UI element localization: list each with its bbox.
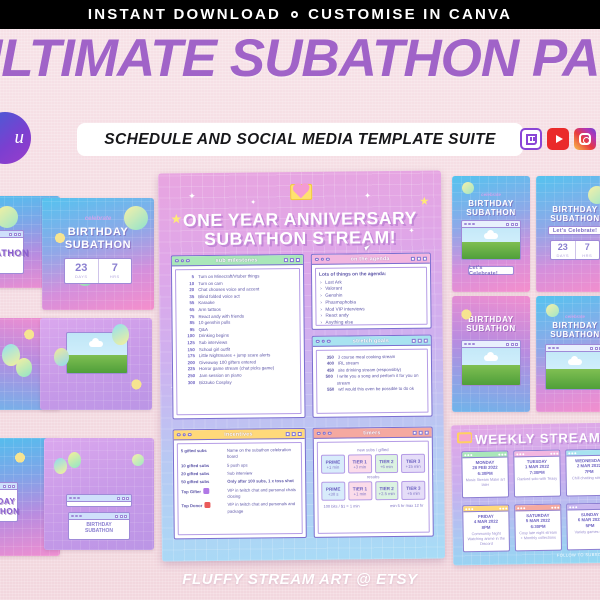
timers-group1-row: PRIME+1 minTIER 1+3 minTIER 2+6 minTIER … <box>321 454 425 474</box>
weekly-day-time: 8PM <box>466 524 507 530</box>
shop-credit: FLUFFY STREAM ART @ ETSY <box>0 571 600 588</box>
timers-group2-label: resubs <box>321 474 425 480</box>
stretch-goals-list: 3503 course meal cooking stream400IRL st… <box>320 354 424 394</box>
window-buttons <box>413 430 429 434</box>
timers-footer-left: 100 bits / $1 = 1 min <box>323 503 359 508</box>
panel-title: stretch goals <box>353 338 389 344</box>
incentive-row: 5 gifted subsName on the subathon celebr… <box>181 447 298 461</box>
photo-frame <box>461 340 521 386</box>
window-dots <box>464 343 475 346</box>
timer-tier-cell: PRIME+1 min <box>321 455 345 474</box>
window-dots <box>71 515 82 518</box>
incentive-value: VIP in twitch chat and personals and pac… <box>227 501 298 514</box>
counter-days: 23 DAYS <box>65 259 98 283</box>
window-dots <box>317 431 332 435</box>
timer-tier-value: +15 min <box>406 463 421 468</box>
window-buttons <box>506 343 518 346</box>
timers-group2-row: PRIME+30 sTIER 1+1 minTIER 2+2.5 minTIER… <box>321 481 425 501</box>
timers-group1-label: new subs / gifted <box>321 447 425 453</box>
palm-leaf-icon <box>126 370 152 394</box>
weekly-day-body: WEDNESDAY2 MAR 20227PMChill chatting str… <box>566 456 600 484</box>
incentives-list: 5 gifted subsName on the subathon celebr… <box>181 447 299 515</box>
timer-tier-value: +2.5 min <box>379 491 395 496</box>
timer-tier-cell: TIER 3+15 min <box>401 454 425 473</box>
photo-frame <box>545 344 600 390</box>
incentive-row: Top DonorVIP in twitch chat and personal… <box>181 501 298 515</box>
weekly-day-description: Ranked solo with Teasy <box>517 477 558 483</box>
agenda-item: Anything else <box>320 319 424 326</box>
instagram-icon <box>574 128 596 150</box>
balloon-icon <box>54 458 67 474</box>
counter-hours: 7 HRS <box>576 241 600 259</box>
promo-banner-left-text: INSTANT DOWNLOAD <box>88 6 281 23</box>
palm-leaf-icon <box>8 442 38 468</box>
panel-body: Lots of things on the agenda: Lost ArkVa… <box>315 267 428 326</box>
panel-incentives: incentives 5 gifted subsName on the suba… <box>173 428 307 539</box>
weekly-day-card[interactable]: WEDNESDAY2 MAR 20227PMChill chatting str… <box>565 449 600 497</box>
sub-milestones-list: 5Turn on Minecraft/Vtuber things10Turn o… <box>179 273 297 386</box>
window-titlebar: sub milestones <box>172 255 303 266</box>
counter-days-value: 23 <box>75 263 87 274</box>
timers-footer-right: min 5 hr max 12 hr <box>390 503 423 508</box>
thumbnail-supertitle: celebrate <box>536 314 600 319</box>
panel-timers: timers new subs / gifted PRIME+1 minTIER… <box>313 427 434 538</box>
timer-tier-cell: TIER 3+5 min <box>401 481 425 500</box>
poster-title-line2: SUBATHON STREAM! <box>159 228 442 250</box>
thumbnail-card[interactable] <box>40 318 152 410</box>
balloon-icon <box>16 358 32 377</box>
milestone-row: 300Bizzuko Cosplay <box>180 379 297 387</box>
incentive-key: Top Gifter <box>181 488 223 501</box>
twitch-icon <box>520 128 542 150</box>
panel-body: 5Turn on Minecraft/Vtuber things10Turn o… <box>175 268 302 415</box>
weekly-day-body: TUESDAY1 MAR 20227:30PMRanked solo with … <box>514 457 559 485</box>
panel-body: 5 gifted subsName on the subathon celebr… <box>177 442 303 535</box>
incentive-key: 5 gifted subs <box>181 448 223 461</box>
subtitle-text: SCHEDULE AND SOCIAL MEDIA TEMPLATE SUITE <box>104 131 495 149</box>
thumbnail-subtitle: SUBATHON <box>452 207 530 218</box>
weekly-day-body: SUNDAY6 MAR 20225PMVariety games day <box>567 510 600 538</box>
window-buttons <box>115 515 127 518</box>
weekly-day-body: SATURDAY5 MAR 20226:30PMCosy late night … <box>515 511 561 544</box>
window-titlebar <box>0 231 23 238</box>
main-poster[interactable]: ★ ★ ✦ ✦ ✦ ✦ ✦ ✦ ✦ ✦ ONE YEAR ANNIVERSARY… <box>158 171 445 562</box>
window-titlebar: incentives <box>174 429 305 440</box>
counter-days-value: 23 <box>558 242 568 253</box>
window-buttons <box>506 223 518 226</box>
thumbnail-card[interactable]: BIRTHDAY SUBATHON <box>452 296 530 412</box>
incentive-row: 10 gifted subs5 push ups <box>181 462 298 469</box>
envelope-heart-icon <box>290 184 312 200</box>
counter-days: 23 DAYS <box>551 241 575 259</box>
weekly-schedule-title: WEEKLY STREAM SCHEDULE <box>475 428 600 447</box>
window-titlebar <box>69 513 129 520</box>
window-titlebar <box>546 345 600 352</box>
counter-days-label: DAYS <box>75 274 88 279</box>
balloon-icon <box>54 348 69 366</box>
stretch-goal-row: 550wtf would this even be possible to do… <box>320 386 424 393</box>
weekly-day-time: 5PM <box>570 523 600 529</box>
window-buttons <box>590 347 600 350</box>
weekly-day-time: 7PM <box>569 469 600 475</box>
panel-title: sub milestones <box>216 257 258 263</box>
counter-hours-value: 7 <box>112 263 118 274</box>
weekly-schedule-card[interactable]: WEEKLY STREAM SCHEDULE MONDAY28 FEB 2022… <box>451 423 600 566</box>
stretch-goal-text: I write you a song and perform it for yo… <box>337 373 424 387</box>
cta-button[interactable]: Let's Celebrate! <box>468 266 514 275</box>
weekly-day-time: 7:30PM <box>517 469 558 475</box>
window-dots <box>177 433 192 437</box>
incentive-key: 50 gifted subs <box>181 479 223 486</box>
timer-tier-value: +1 min <box>327 464 340 469</box>
weekly-day-description: Music Stream Make art later <box>465 478 506 489</box>
window-panel: BIRTHDAY SUBATHON <box>68 512 130 540</box>
window-buttons <box>9 233 21 236</box>
thumbnail-card[interactable]: BIRTHDAY SUBATHON <box>44 438 154 550</box>
weekly-day-description: Chill chatting stream <box>569 476 600 482</box>
window-dots <box>69 497 80 500</box>
timers-footer: 100 bits / $1 = 1 min min 5 hr max 12 hr <box>321 503 425 509</box>
balloon-icon <box>68 452 81 468</box>
timer-tier-cell: TIER 1+3 min <box>348 454 372 473</box>
star-icon: ★ <box>419 195 429 208</box>
twitch-mini-icon <box>203 488 209 494</box>
balloon-icon <box>112 324 129 345</box>
subtitle-pill: SCHEDULE AND SOCIAL MEDIA TEMPLATE SUITE <box>77 123 523 156</box>
page-title: ULTIMATE SUBATHON PACKAGE <box>0 28 600 90</box>
window-titlebar: on the agenda <box>312 254 430 265</box>
incentive-value: Only after 100 subs, 1 x toss shot <box>227 478 298 485</box>
timer-tier-cell: TIER 1+1 min <box>348 481 372 500</box>
moon-icon <box>132 454 144 466</box>
folder-icon <box>457 432 472 443</box>
thumbnail-supertitle: celebrate <box>452 192 530 197</box>
timer-tier-cell: TIER 2+2.5 min <box>375 481 399 500</box>
thumbnail-subtitle: SUBATHON <box>536 213 600 224</box>
weekly-day-description: Variety games day <box>570 530 600 536</box>
weekly-day-card[interactable]: SUNDAY6 MAR 20225PMVariety games day <box>566 503 600 551</box>
window-buttons <box>412 338 428 342</box>
timer-tier-value: +3 min <box>353 464 366 469</box>
window-dots <box>464 223 475 226</box>
timer-tier-cell: PRIME+30 s <box>321 482 345 501</box>
window-titlebar <box>462 221 520 228</box>
panel-on-the-agenda: on the agenda Lots of things on the agen… <box>311 253 432 330</box>
thumbnail-title: SUBATHON <box>0 248 24 259</box>
weekly-day-time: 6:30PM <box>518 523 559 529</box>
youtube-mini-icon <box>204 502 210 508</box>
circle-outline-icon <box>291 11 298 18</box>
window-panel <box>66 494 132 507</box>
weekly-day-description: Cosy late night stream + Monthly collect… <box>518 531 559 542</box>
countdown-counter: 23 DAYS 7 HRS <box>64 258 132 284</box>
cloud-icon <box>484 355 498 361</box>
cloud-icon <box>568 359 582 365</box>
incentive-value: 5 push ups <box>227 462 298 469</box>
window-buttons <box>411 256 427 260</box>
weekly-day-time: 6:30PM <box>465 470 506 476</box>
window-titlebar <box>0 483 17 490</box>
thumbnail-card[interactable]: celebrate BIRTHDAY SUBATHON <box>536 296 600 412</box>
window-dots <box>316 339 331 343</box>
window-buttons <box>117 497 129 500</box>
thumbnail-subtitle: SUBATHON <box>452 323 530 334</box>
incentive-value: Sub interview <box>227 470 298 477</box>
window-dots <box>548 347 559 350</box>
thumbnail-subtitle: SUBATHON <box>0 506 14 517</box>
incentive-value: VIP in twitch chat and personal chats cl… <box>227 487 298 500</box>
panel-stretch-goals: stretch goals 3503 course meal cooking s… <box>312 335 433 418</box>
window-titlebar <box>462 341 520 348</box>
incentive-row: 50 gifted subsOnly after 100 subs, 1 x t… <box>181 478 298 485</box>
weekly-day-card[interactable]: TUESDAY1 MAR 20227:30PMRanked solo with … <box>513 450 561 498</box>
promo-banner-right-text: CUSTOMISE IN CANVA <box>308 6 512 23</box>
moon-icon <box>0 206 18 228</box>
promo-banner: INSTANT DOWNLOAD CUSTOMISE IN CANVA <box>0 0 600 29</box>
incentive-row: 20 gifted subsSub interview <box>181 470 298 477</box>
panel-title: incentives <box>224 431 252 437</box>
moon-icon <box>588 186 600 204</box>
thumbnail-card[interactable]: celebrate BIRTHDAY SUBATHON 23 DAYS 7 HR… <box>42 198 154 310</box>
stretch-goal-number: 550 <box>320 387 334 394</box>
weekly-schedule-footer: FOLLOW TO SUBSCRIBE <box>557 552 600 558</box>
cloud-icon <box>89 341 103 347</box>
photo-frame <box>461 220 521 260</box>
thumbnail-card[interactable]: BIRTHDAY SUBATHON Let's Celebrate! 23 DA… <box>536 176 600 292</box>
incentive-row: Top GifterVIP in twitch chat and persona… <box>181 487 298 501</box>
incentive-key: 20 gifted subs <box>181 471 223 478</box>
weekly-day-description: Community Night Watching anime in the Di… <box>466 532 507 548</box>
incentive-key: 10 gifted subs <box>181 462 223 469</box>
social-icon-row <box>520 128 596 150</box>
weekly-day-body: FRIDAY4 MAR 20228PMCommunity Night Watch… <box>463 511 509 549</box>
cloud-icon <box>484 233 498 239</box>
counter-hours-value: 7 <box>585 242 590 253</box>
window-titlebar: stretch goals <box>313 336 431 347</box>
stretch-goal-text: wtf would this even be possible to do ok <box>338 386 414 393</box>
panel-body: new subs / gifted PRIME+1 minTIER 1+3 mi… <box>317 441 430 534</box>
window-titlebar <box>67 495 131 502</box>
window-buttons <box>284 258 300 262</box>
countdown-counter: 23 DAYS 7 HRS <box>550 240 600 260</box>
incentive-key: Top Donor <box>181 502 223 515</box>
timer-tier-value: +6 min <box>380 464 393 469</box>
counter-hours: 7 HRS <box>99 259 132 283</box>
milestone-text: Bizzuko Cosplay <box>199 379 232 386</box>
youtube-icon <box>547 128 569 150</box>
window-buttons <box>286 432 302 436</box>
timer-tier-value: +1 min <box>354 491 367 496</box>
window-titlebar: timers <box>314 428 432 439</box>
weekly-day-body: MONDAY28 FEB 20226:30PMMusic Stream Make… <box>462 457 508 490</box>
palm-leaf-icon <box>48 220 78 250</box>
stretch-goal-row: 500I write you a song and perform it for… <box>320 373 424 387</box>
milestone-number: 300 <box>180 380 195 387</box>
thumbnail-card[interactable]: celebrate BIRTHDAY SUBATHON Let's Celebr… <box>452 176 530 292</box>
timer-tier-value: +5 min <box>407 490 420 495</box>
counter-hours-label: HRS <box>110 274 120 279</box>
timer-tier-cell: TIER 2+6 min <box>374 454 398 473</box>
poster-title: ONE YEAR ANNIVERSARY SUBATHON STREAM! <box>158 209 441 250</box>
stretch-goal-number: 500 <box>320 374 333 387</box>
window-dots <box>315 257 330 261</box>
weekly-day-card[interactable]: FRIDAY4 MAR 20228PMCommunity Night Watch… <box>462 504 510 552</box>
cta-button[interactable]: Let's Celebrate! <box>548 226 600 235</box>
panel-title: timers <box>363 430 380 436</box>
palm-leaf-icon <box>456 300 482 324</box>
panel-body: 3503 course meal cooking stream400IRL st… <box>316 349 429 414</box>
thumbnail-subtitle: SUBATHON <box>536 329 600 340</box>
counter-hours-label: HRS <box>582 253 592 258</box>
agenda-heading: Lots of things on the agenda: <box>319 272 423 278</box>
incentive-value: Name on the subathon celebration board <box>227 447 298 460</box>
thumbnail-subtitle: SUBATHON <box>69 528 129 534</box>
agenda-list: Lost ArkValorantGenshinPhasmophobiaMod V… <box>319 278 423 326</box>
counter-days-label: DAYS <box>556 253 569 258</box>
window-dots <box>175 259 190 263</box>
weekly-day-card[interactable]: SATURDAY5 MAR 20226:30PMCosy late night … <box>514 504 562 552</box>
timer-tier-value: +30 s <box>328 491 338 496</box>
panel-title: on the agenda <box>351 256 390 262</box>
panel-sub-milestones: sub milestones 5Turn on Minecraft/Vtuber… <box>171 254 306 419</box>
brand-logo-letter: u <box>15 127 25 149</box>
weekly-day-card[interactable]: MONDAY28 FEB 20226:30PMMusic Stream Make… <box>461 450 509 498</box>
window-buttons <box>3 485 15 488</box>
